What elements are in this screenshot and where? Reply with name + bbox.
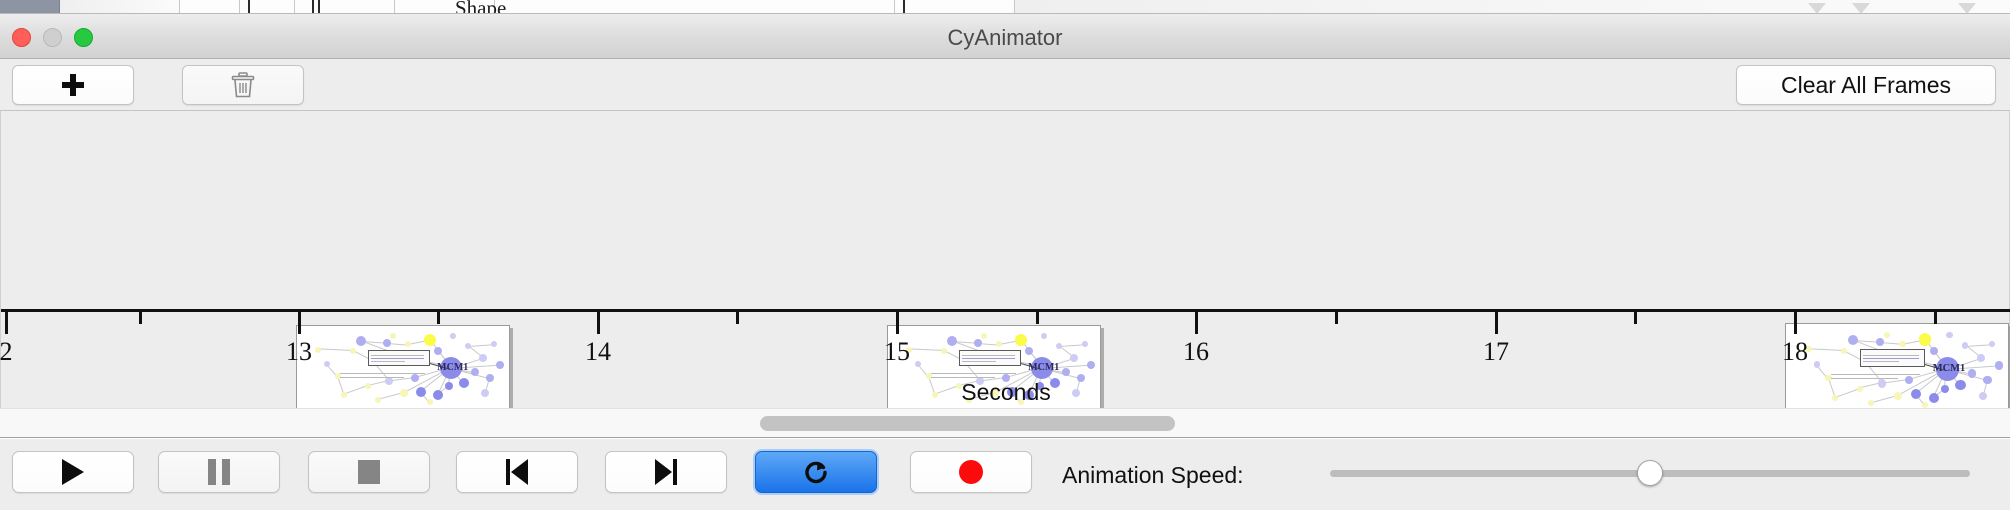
axis-tick-major xyxy=(1195,312,1198,334)
bg-segment xyxy=(895,0,1015,14)
axis-tick-label: 17 xyxy=(1483,337,1509,367)
axis-tick-label: 14 xyxy=(585,337,611,367)
axis-tick-minor xyxy=(1335,312,1338,324)
window-title: CyAnimator xyxy=(0,25,2010,51)
axis-tick-major xyxy=(5,312,8,334)
scrollbar-thumb[interactable] xyxy=(760,416,1175,431)
bg-divider xyxy=(248,0,250,14)
record-button[interactable] xyxy=(910,451,1032,493)
bg-arrow-icon xyxy=(1852,3,1870,14)
stop-icon xyxy=(358,460,380,484)
axis-tick-label: 13 xyxy=(286,337,312,367)
bg-segment xyxy=(295,0,395,14)
clear-all-frames-button[interactable]: Clear All Frames xyxy=(1736,65,1996,105)
skip-forward-button[interactable] xyxy=(605,451,727,493)
animation-speed-slider-thumb[interactable] xyxy=(1637,460,1663,486)
bg-divider xyxy=(318,0,320,14)
axis-tick-minor xyxy=(1634,312,1637,324)
axis-tick-minor xyxy=(139,312,142,324)
axis-tick-minor xyxy=(736,312,739,324)
trash-icon xyxy=(230,71,256,99)
bg-arrow-icon xyxy=(1808,3,1826,14)
skip-back-icon xyxy=(505,459,529,485)
playback-controls: Animation Speed: xyxy=(0,439,2010,510)
axis-title: Seconds xyxy=(1,379,2010,406)
bg-segment xyxy=(495,0,895,14)
axis-tick-label: 16 xyxy=(1183,337,1209,367)
skip-back-button[interactable] xyxy=(456,451,578,493)
bg-divider xyxy=(312,0,314,14)
axis-tick-minor xyxy=(1934,312,1937,324)
stop-button xyxy=(308,451,430,493)
skip-forward-icon xyxy=(654,459,678,485)
axis-line xyxy=(1,309,2010,312)
bg-segment xyxy=(180,0,240,14)
toolbar: Clear All Frames xyxy=(0,59,2010,111)
animation-speed-label: Animation Speed: xyxy=(1062,462,1244,489)
play-icon xyxy=(62,459,84,485)
axis-tick-major xyxy=(298,312,301,334)
cyanimator-window: Shape CyAnimator Clear All Fram xyxy=(0,0,2010,510)
axis-tick-major xyxy=(597,312,600,334)
background-window-strip: Shape xyxy=(0,0,2010,14)
title-bar[interactable]: CyAnimator xyxy=(0,14,2010,59)
loop-icon xyxy=(801,457,831,487)
axis-tick-major xyxy=(1495,312,1498,334)
frames-area: MCM1MCM1MCM1 xyxy=(1,111,2010,309)
pause-button xyxy=(158,451,280,493)
axis-tick-major xyxy=(896,312,899,334)
pause-icon xyxy=(208,459,230,485)
play-button[interactable] xyxy=(12,451,134,493)
timeline-scrollbar[interactable] xyxy=(0,408,2010,438)
time-axis: 2131415161718 Seconds xyxy=(1,309,2010,408)
axis-tick-minor xyxy=(1036,312,1039,324)
axis-tick-label: 18 xyxy=(1782,337,1808,367)
bg-segment xyxy=(0,0,60,14)
loop-button[interactable] xyxy=(755,451,877,493)
plus-icon xyxy=(61,73,85,97)
axis-tick-major xyxy=(1794,312,1797,334)
axis-tick-label: 15 xyxy=(884,337,910,367)
bg-segment xyxy=(60,0,180,14)
timeline-panel: MCM1MCM1MCM1 2131415161718 Seconds xyxy=(0,111,2010,408)
delete-frame-button[interactable] xyxy=(182,65,304,105)
background-window-label: Shape xyxy=(455,0,506,14)
bg-divider xyxy=(903,0,905,14)
add-frame-button[interactable] xyxy=(12,65,134,105)
bg-arrow-icon xyxy=(1958,3,1976,14)
axis-tick-label: 2 xyxy=(0,337,13,367)
axis-tick-minor xyxy=(437,312,440,324)
record-icon xyxy=(959,460,983,484)
